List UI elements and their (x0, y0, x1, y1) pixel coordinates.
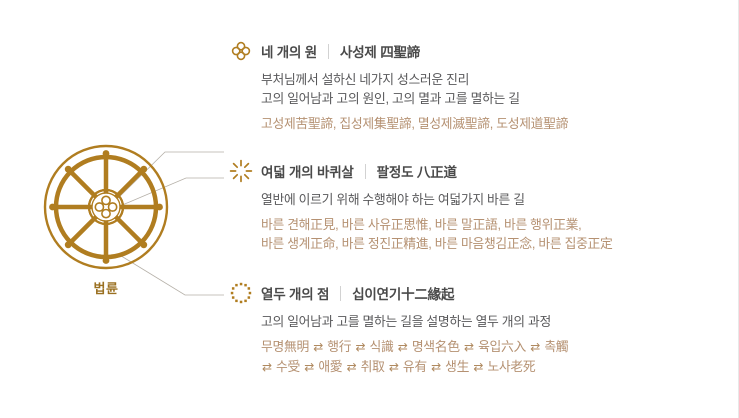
chain-term: 노사老死 (487, 359, 535, 374)
twelve-dot-circle-icon (228, 280, 254, 306)
terms-line: 바른 견해正見, 바른 사유正思惟, 바른 말正語, 바른 행위正業, (261, 215, 613, 234)
section-header: 네 개의 원 사성제 四聖諦 (228, 38, 568, 64)
section-twelve-links: 열두 개의 점 십이연기十二緣起 고의 일어남과 고를 멸하는 길을 설명하는 … (228, 280, 568, 377)
infographic-page: 법륜 네 개의 원 사성제 四聖諦 부처님께서 설하신 네가지 성스러운 진리 (0, 0, 739, 418)
section-header: 여덟 개의 바퀴살 팔정도 八正道 (228, 158, 613, 184)
section-four-noble-truths: 네 개의 원 사성제 四聖諦 부처님께서 설하신 네가지 성스러운 진리 고의 … (228, 38, 568, 133)
chain-arrow-icon: ⇄ (430, 360, 442, 374)
title-divider (365, 164, 366, 179)
description-line: 열반에 이르기 위해 수행해야 하는 여덟가지 바른 길 (261, 190, 613, 209)
quatrefoil-four-circles-icon (228, 38, 254, 64)
chain-arrow-icon: ⇄ (529, 340, 541, 354)
section-body: 부처님께서 설하신 네가지 성스러운 진리 고의 일어남과 고의 원인, 고의 … (261, 70, 568, 133)
chain-arrow-icon: ⇄ (397, 340, 409, 354)
chain-arrow-icon: ⇄ (472, 360, 484, 374)
chain-line: 무명無明 ⇄ 행行 ⇄ 식識 ⇄ 명색名色 ⇄ 육입六入 ⇄ 촉觸 (261, 337, 568, 357)
chain-term: 행行 (327, 339, 351, 354)
chain-term: 명색名色 (412, 339, 460, 354)
chain-arrow-icon: ⇄ (346, 360, 358, 374)
chain-arrow-icon: ⇄ (355, 340, 367, 354)
chain-term: 유有 (403, 359, 427, 374)
chain-term: 육입六入 (478, 339, 526, 354)
description-line: 부처님께서 설하신 네가지 성스러운 진리 (261, 70, 568, 89)
terms-block: 바른 견해正見, 바른 사유正思惟, 바른 말正語, 바른 행위正業, 바른 생… (261, 215, 613, 253)
title-divider (328, 44, 329, 59)
description-line: 고의 일어남과 고의 원인, 고의 멸과 고를 멸하는 길 (261, 89, 568, 108)
chain-term: 취取 (361, 359, 385, 374)
chain-term: 무명無明 (261, 339, 309, 354)
dharma-wheel-block: 법륜 (36, 142, 176, 297)
chain-term: 촉觸 (544, 339, 568, 354)
section-eightfold-path: 여덟 개의 바퀴살 팔정도 八正道 열반에 이르기 위해 수행해야 하는 여덟가… (228, 158, 613, 253)
terms-block: 무명無明 ⇄ 행行 ⇄ 식識 ⇄ 명색名色 ⇄ 육입六入 ⇄ 촉觸 ⇄ 수受 ⇄… (261, 337, 568, 377)
chain-term: 수受 (276, 359, 300, 374)
wheel-caption: 법륜 (36, 278, 176, 297)
section-title-ko: 네 개의 원 (261, 41, 317, 61)
section-title-ko: 여덟 개의 바퀴살 (261, 161, 354, 181)
terms-line: 고성제苦聖諦, 집성제集聖諦, 멸성제滅聖諦, 도성제道聖諦 (261, 114, 568, 133)
terms-line: 바른 생계正命, 바른 정진正精進, 바른 마음챙김正念, 바른 집중正定 (261, 234, 613, 253)
chain-term: 생生 (445, 359, 469, 374)
section-title-ko: 열두 개의 점 (261, 283, 329, 303)
chain-arrow-icon: ⇄ (388, 360, 400, 374)
chain-line: ⇄ 수受 ⇄ 애愛 ⇄ 취取 ⇄ 유有 ⇄ 생生 ⇄ 노사老死 (261, 357, 568, 377)
terms-block: 고성제苦聖諦, 집성제集聖諦, 멸성제滅聖諦, 도성제道聖諦 (261, 114, 568, 133)
eight-ray-starburst-icon (228, 158, 254, 184)
description-line: 고의 일어남과 고를 멸하는 길을 설명하는 열두 개의 과정 (261, 312, 568, 331)
chain-arrow-icon: ⇄ (312, 340, 324, 354)
section-body: 고의 일어남과 고를 멸하는 길을 설명하는 열두 개의 과정 무명無明 ⇄ 행… (261, 312, 568, 377)
section-body: 열반에 이르기 위해 수행해야 하는 여덟가지 바른 길 바른 견해正見, 바른… (261, 190, 613, 253)
chain-arrow-icon: ⇄ (463, 340, 475, 354)
section-title-hanja: 팔정도 八正道 (377, 161, 457, 181)
chain-term: 식識 (370, 339, 394, 354)
section-title-hanja: 십이연기十二緣起 (352, 283, 454, 303)
chain-term: 애愛 (318, 359, 342, 374)
chain-arrow-icon: ⇄ (303, 360, 315, 374)
chain-arrow-icon: ⇄ (261, 360, 273, 374)
dharma-wheel-icon (41, 142, 171, 272)
section-header: 열두 개의 점 십이연기十二緣起 (228, 280, 568, 306)
title-divider (340, 286, 341, 301)
section-title-hanja: 사성제 四聖諦 (340, 41, 420, 61)
